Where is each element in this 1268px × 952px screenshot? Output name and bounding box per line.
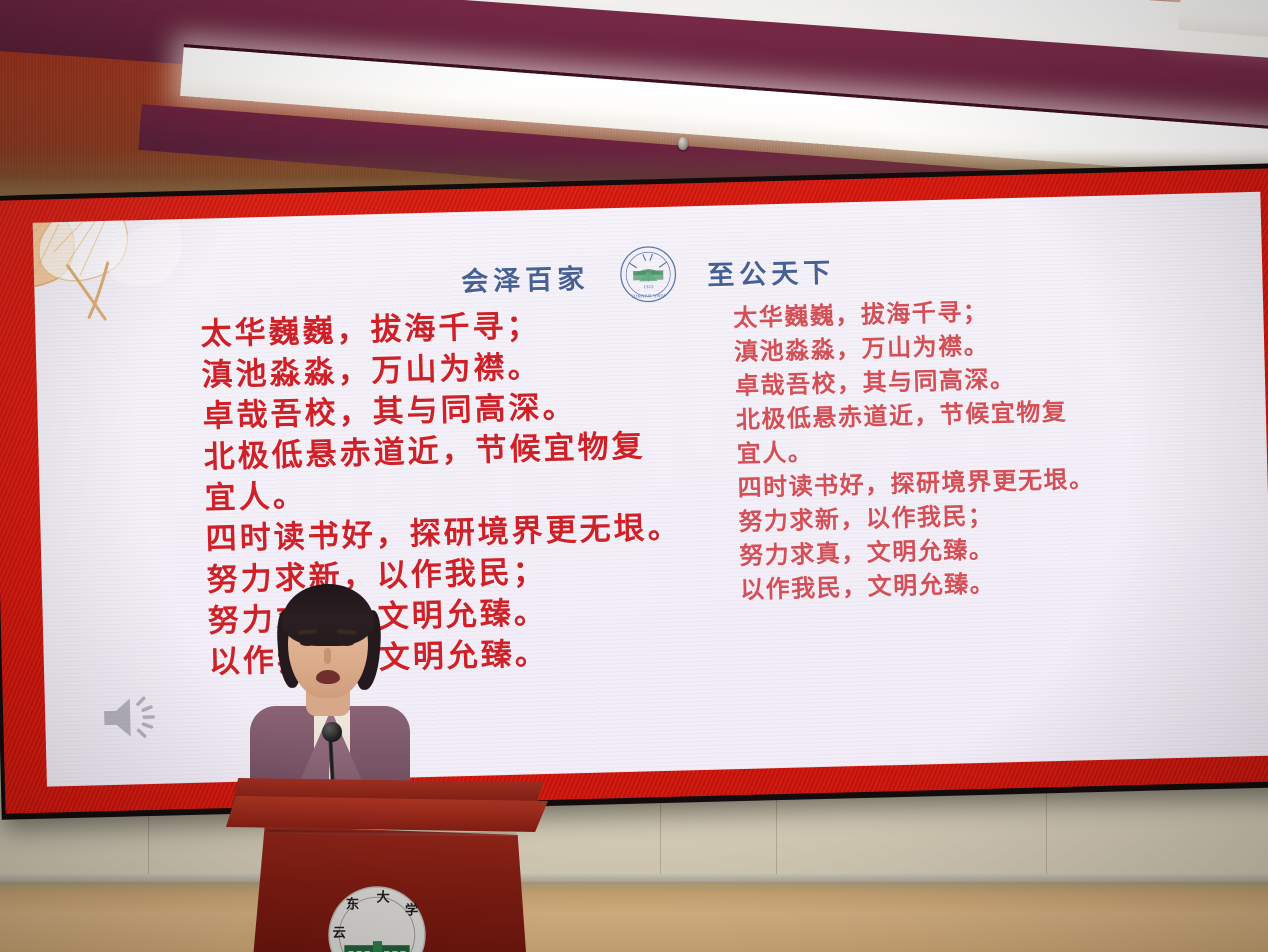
nose xyxy=(324,648,331,664)
presenter xyxy=(244,580,416,802)
lecture-hall-photo: 会泽百家 1922 YUNNAN UNIV. 至公天下 xyxy=(0,0,1268,952)
audio-speaker-icon[interactable] xyxy=(100,692,167,744)
svg-text:东: 东 xyxy=(346,895,359,912)
presentation-slide[interactable]: 会泽百家 1922 YUNNAN UNIV. 至公天下 xyxy=(33,192,1268,787)
university-crest-emblem-icon: 东 大 学 云 xyxy=(326,884,428,952)
svg-text:1922: 1922 xyxy=(643,284,654,289)
motto-left: 会泽百家 xyxy=(461,256,590,298)
microphone-head xyxy=(322,722,342,742)
motto-right: 至公天下 xyxy=(707,250,836,292)
eye-left xyxy=(300,640,315,646)
svg-text:学: 学 xyxy=(405,902,418,919)
mouth xyxy=(316,670,340,684)
hair-top xyxy=(282,584,374,646)
svg-text:YUNNAN UNIV.: YUNNAN UNIV. xyxy=(630,293,667,300)
slide-text-columns: 太华巍巍，拔海千寻； 滇池淼淼，万山为襟。 卓哉吾校，其与同高深。 北极低悬赤道… xyxy=(35,288,1268,688)
ceiling-sensor-icon xyxy=(678,137,688,150)
eye-right xyxy=(339,640,354,646)
wood-floor xyxy=(0,882,1268,952)
lectern[interactable]: 东 大 学 云 xyxy=(226,778,548,952)
poem-column-right: 太华巍巍，拔海千寻； 滇池淼淼，万山为襟。 卓哉吾校，其与同高深。 北极低悬赤道… xyxy=(725,288,1268,670)
yunnan-university-seal-icon: 1922 YUNNAN UNIV. xyxy=(618,245,677,304)
svg-text:大: 大 xyxy=(376,888,390,905)
projection-screen[interactable]: 会泽百家 1922 YUNNAN UNIV. 至公天下 xyxy=(0,163,1268,820)
svg-text:云: 云 xyxy=(333,925,346,941)
